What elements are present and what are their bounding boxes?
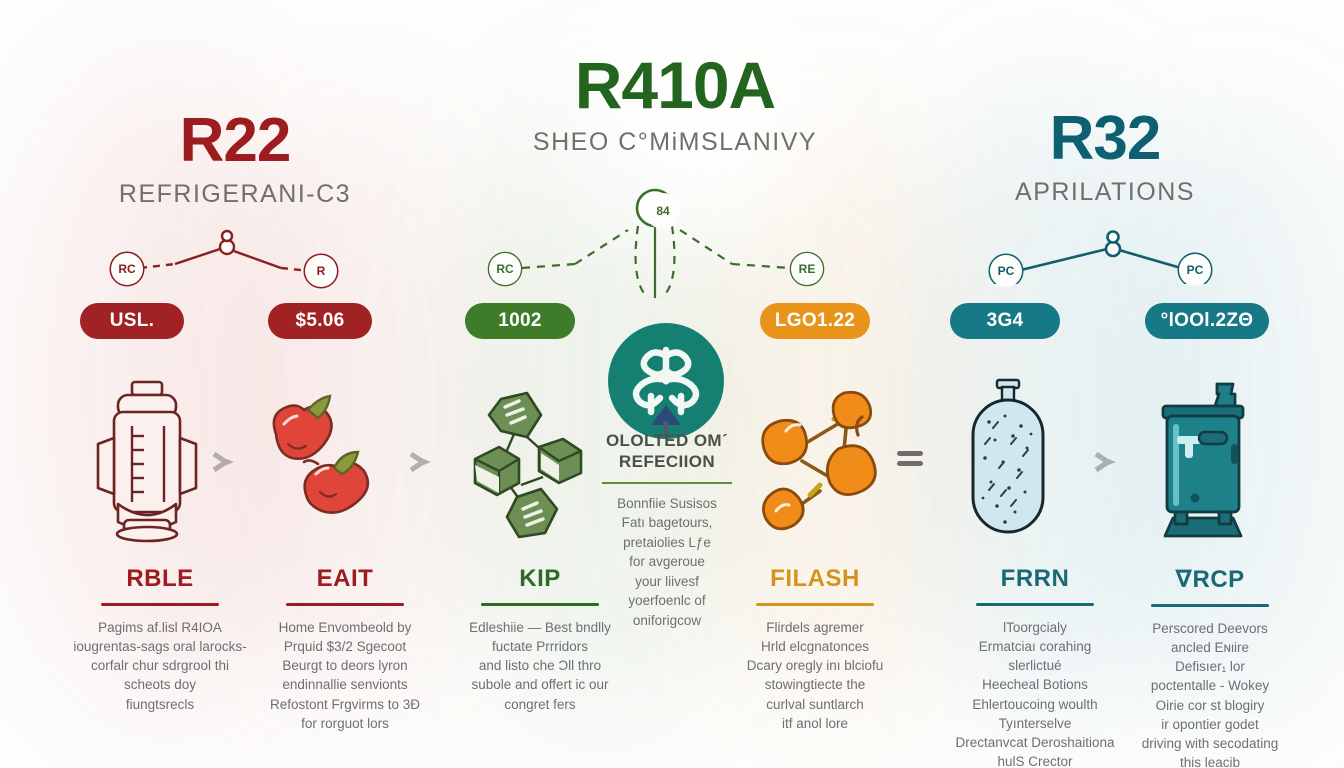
caption-body: Home Envombeold by Prquid $3/2 Sgecoot B… xyxy=(245,618,445,733)
orange-molecule-icon xyxy=(750,385,880,540)
infographic-canvas: R22 REFRIGERANI-C3 R410A SHEO C°MiMSLANI… xyxy=(0,0,1344,768)
speckled-tank-icon xyxy=(965,378,1051,538)
caption-r410a-right: FILASH Flirdels agremer Hrld elcgnatonce… xyxy=(715,565,915,733)
node-label-r410a-left: RC xyxy=(489,253,521,285)
caption-body: lToorgcialy Ermatciaı corahing slerlictu… xyxy=(935,618,1135,768)
node-label-r22-right: R xyxy=(305,255,337,287)
badge-r410a-left[interactable]: 1002 xyxy=(465,303,575,339)
chevron-right-arrow-icon xyxy=(208,445,242,479)
apple-pair-icon xyxy=(258,392,378,532)
caption-body: Edleshiie — Best bndlly fuctate Prrridor… xyxy=(440,618,640,714)
section-subtitle-r32: APRILATIONS xyxy=(915,178,1295,207)
caption-body: Flirdels agremer Hrld elcgnatonces Dcary… xyxy=(715,618,915,733)
badge-r410a-right[interactable]: LGO1.22 xyxy=(760,303,870,339)
caption-r22-right: EAIT Home Envombeold by Prquid $3/2 Sgec… xyxy=(245,565,445,733)
badge-r22-right[interactable]: $5.06 xyxy=(268,303,372,339)
node-label-r410a-top: 84 xyxy=(645,193,681,229)
caption-divider xyxy=(756,603,874,606)
gas-cylinder-icon xyxy=(88,378,208,543)
caption-divider xyxy=(976,603,1094,606)
caption-r22-left: RBLE Pagims af.lisl R4IOA iougrentas-sag… xyxy=(60,565,260,714)
section-title-r32: R32 xyxy=(955,108,1255,170)
center-note-divider xyxy=(602,482,732,484)
section-title-r22: R22 xyxy=(75,110,395,172)
badge-r32-right[interactable]: °lOOl.2ZΘ xyxy=(1145,303,1269,339)
caption-heading: FRRN xyxy=(935,565,1135,593)
caption-heading: RBLE xyxy=(60,565,260,593)
caption-r410a-left: KIP Edleshiie — Best bndlly fuctate Prrr… xyxy=(440,565,640,714)
caption-body: Perscored Deevors ancled Eɴιire Defisıer… xyxy=(1110,619,1310,768)
caption-divider xyxy=(286,603,404,606)
hexagon-molecule-icon xyxy=(465,385,590,545)
teal-compressor-icon xyxy=(1155,380,1251,542)
center-note-heading: OLOLTED OM´ REFECIION xyxy=(592,430,742,473)
section-subtitle-r22: REFRIGERANI-C3 xyxy=(45,180,425,209)
caption-body: Pagims af.lisl R4IOA iougrentas-sags ora… xyxy=(60,618,260,714)
caption-heading: KIP xyxy=(440,565,640,593)
caption-divider xyxy=(481,603,599,606)
section-title-r410a: R410A xyxy=(495,52,855,118)
caption-heading: FILASH xyxy=(715,565,915,593)
node-label-r410a-right: RE xyxy=(791,253,823,285)
chevron-right-arrow-icon xyxy=(1090,445,1124,479)
caption-heading: ∇RCP xyxy=(1110,565,1310,594)
caption-r32-left: FRRN lToorgcialy Ermatciaı corahing sler… xyxy=(935,565,1135,768)
node-label-r32-right: PC xyxy=(1179,254,1211,286)
caption-r32-right: ∇RCP Perscored Deevors ancled Eɴιire Def… xyxy=(1110,565,1310,768)
caption-divider xyxy=(1151,604,1269,607)
section-subtitle-r410a: SHEO C°MiMSLANIVY xyxy=(455,128,895,157)
caption-divider xyxy=(101,603,219,606)
caption-heading: EAIT xyxy=(245,565,445,593)
node-label-r32-left: PC xyxy=(990,255,1022,287)
badge-r22-left[interactable]: USL. xyxy=(80,303,184,339)
node-label-r22-left: RC xyxy=(111,253,143,285)
chevron-right-arrow-icon xyxy=(405,445,439,479)
equals-divider-icon xyxy=(895,444,935,478)
badge-r32-left[interactable]: 3G4 xyxy=(950,303,1060,339)
